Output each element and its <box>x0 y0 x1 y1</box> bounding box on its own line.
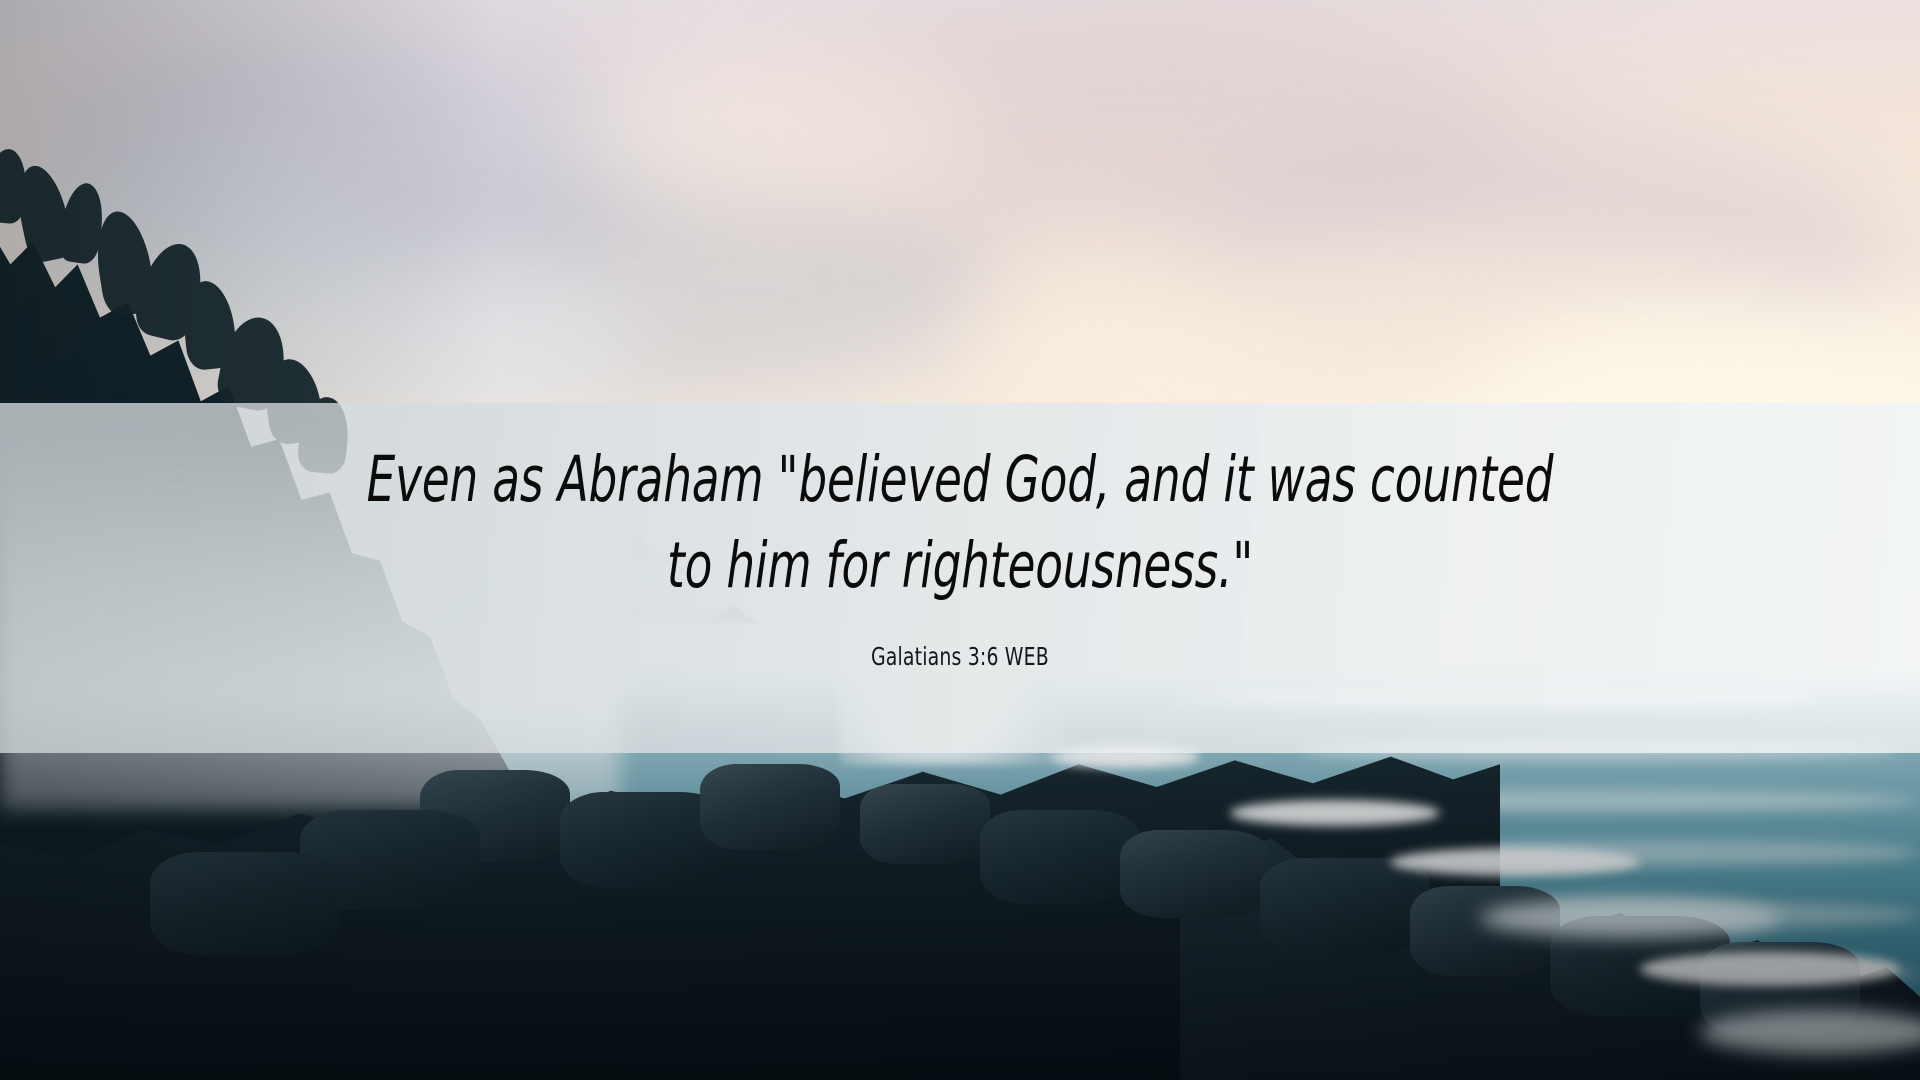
wave-foam <box>1230 800 1440 826</box>
boulder <box>1120 830 1270 918</box>
verse-text: Even as Abraham "believed God, and it wa… <box>344 437 1576 608</box>
cloud <box>560 60 980 210</box>
verse-overlay-band: Even as Abraham "believed God, and it wa… <box>0 403 1920 753</box>
boulder <box>150 852 340 956</box>
wave-foam <box>1480 898 1780 938</box>
boulder <box>980 810 1140 904</box>
boulder <box>860 784 990 864</box>
boulder <box>700 764 840 850</box>
boulder <box>1260 858 1430 954</box>
verse-wallpaper: Even as Abraham "believed God, and it wa… <box>0 0 1920 1080</box>
wave-foam <box>1640 952 1900 986</box>
wave-foam <box>1390 848 1640 876</box>
verse-reference: Galatians 3:6 WEB <box>871 642 1049 671</box>
